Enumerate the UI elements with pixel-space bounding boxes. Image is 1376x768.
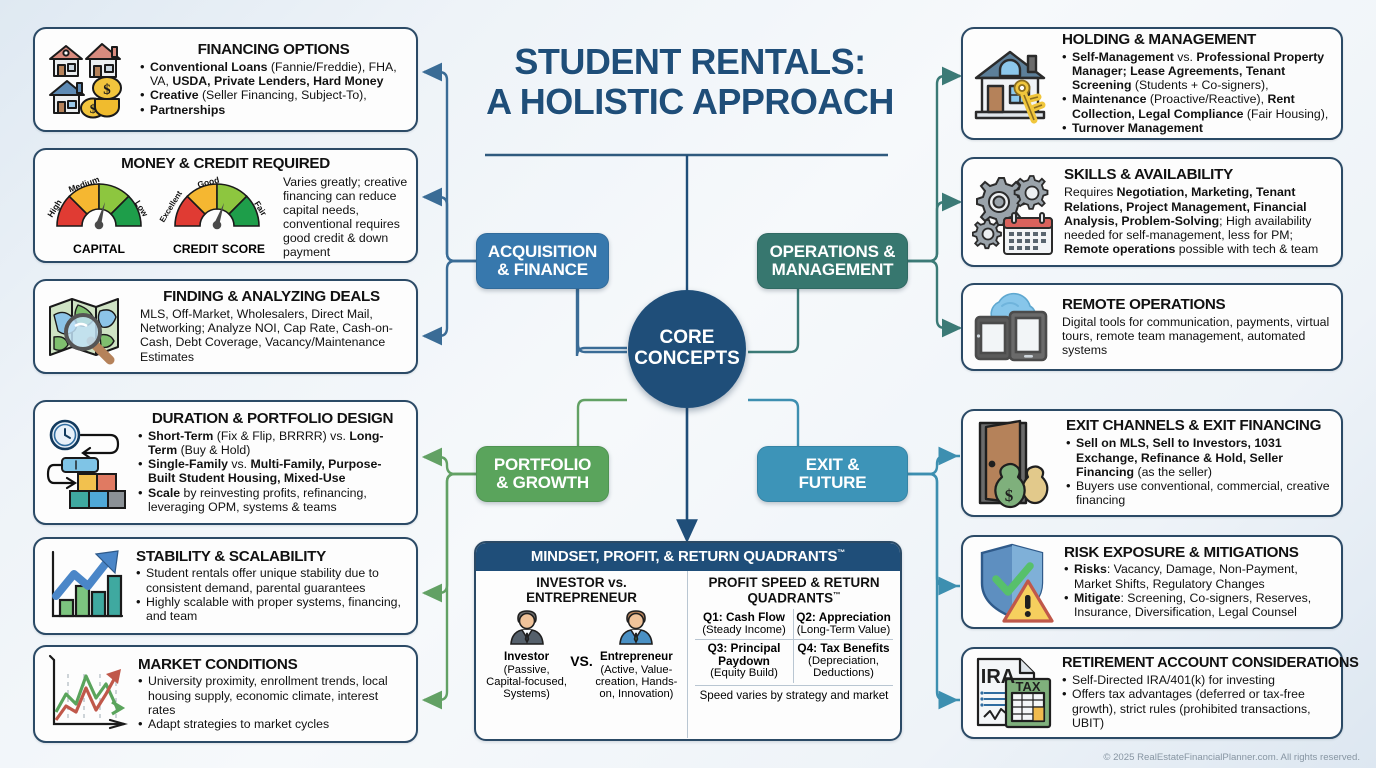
list-item: Buyers use conventional, commercial, cre…: [1066, 479, 1332, 508]
panel-text: MLS, Off-Market, Wholesalers, Direct Mai…: [136, 307, 407, 364]
panel-text: Requires Negotiation, Marketing, Tenant …: [1064, 185, 1332, 256]
svg-text:TAX: TAX: [1015, 679, 1040, 694]
copyright-notice: © 2025 RealEstateFinancialPlanner.com. A…: [1103, 752, 1360, 763]
quadrant-desc: (Steady Income): [697, 624, 791, 636]
quadrant-desc: (Depreciation, Deductions): [796, 655, 891, 680]
list-item: Student rentals offer unique stability d…: [136, 566, 407, 595]
ira-tax-icon: IRA TAX: [972, 653, 1054, 733]
quadrant-cell-q1: Q1: Cash Flow (Steady Income): [695, 609, 794, 640]
panel-money-credit-required[interactable]: MONEY & CREDIT REQUIRED High Medium Low: [33, 148, 418, 263]
list-item: Self-Directed IRA/401(k) for investing: [1062, 673, 1337, 687]
profit-speed-return-column: PROFIT SPEED & RETURN QUADRANTS™ Q1: Cas…: [688, 571, 900, 738]
branch-label-line-2: & GROWTH: [494, 474, 591, 492]
panel-bullet-list: Sell on MLS, Sell to Investors, 1031 Exc…: [1066, 436, 1332, 507]
panel-bullet-list: Student rentals offer unique stability d…: [136, 566, 407, 623]
panel-bullet-list: Self-Directed IRA/401(k) for investing O…: [1062, 673, 1337, 730]
title-line-1: STUDENT RENTALS:: [440, 42, 940, 82]
trademark-symbol: ™: [833, 590, 841, 599]
panel-holding-management[interactable]: HOLDING & MANAGEMENT Self-Management vs.…: [961, 27, 1343, 140]
houses-and-coins-icon: $ $: [44, 37, 132, 123]
gauge-capital: High Medium Low CAPITAL: [43, 174, 155, 256]
list-item: Self-Management vs. Professional Propert…: [1062, 50, 1332, 93]
list-item: Risks: Vacancy, Damage, Non-Payment, Mar…: [1064, 562, 1332, 591]
person-desc: (Active, Value-creation, Hands-on, Innov…: [593, 664, 680, 700]
panel-heading: FINDING & ANALYZING DEALS: [136, 289, 407, 305]
list-item: Sell on MLS, Sell to Investors, 1031 Exc…: [1066, 436, 1332, 479]
quadrant-box-header: MINDSET, PROFIT, & RETURN QUADRANTS™: [476, 543, 900, 571]
panel-bullet-list: Short-Term (Fix & Flip, BRRRR) vs. Long-…: [138, 429, 407, 515]
list-item: Maintenance (Proactive/Reactive), Rent C…: [1062, 92, 1332, 121]
person-name: Investor: [483, 651, 570, 664]
svg-text:IRA: IRA: [981, 666, 1015, 688]
panel-text: Varies greatly; creative financing can r…: [283, 174, 408, 259]
panel-heading: HOLDING & MANAGEMENT: [1062, 32, 1332, 48]
column-title: PROFIT SPEED & RETURN QUADRANTS™: [695, 576, 893, 606]
branch-label-line-1: PORTFOLIO: [494, 456, 591, 474]
quadrant-desc: (Equity Build): [697, 667, 791, 679]
panel-heading: RETIREMENT ACCOUNT CONSIDERATIONS: [1062, 656, 1337, 671]
panel-remote-operations[interactable]: REMOTE OPERATIONS Digital tools for comm…: [961, 283, 1343, 371]
gauge-label: CAPITAL: [43, 242, 155, 256]
mindset-profit-return-quadrants-box[interactable]: MINDSET, PROFIT, & RETURN QUADRANTS™ INV…: [474, 541, 902, 741]
panel-heading: STABILITY & SCALABILITY: [136, 549, 407, 565]
list-item: Single-Family vs. Multi-Family, Purpose-…: [138, 457, 407, 486]
core-label-line-1: CORE: [634, 328, 740, 349]
panel-heading: MARKET CONDITIONS: [138, 657, 407, 673]
quadrant-cell-q3: Q3: Principal Paydown (Equity Build): [695, 640, 794, 683]
panel-bullet-list: Conventional Loans (Fannie/Freddie), FHA…: [140, 60, 407, 117]
person-name: Entrepreneur: [593, 651, 680, 664]
branch-acquisition-finance[interactable]: ACQUISITION & FINANCE: [476, 233, 609, 289]
entrepreneur-profile: Entrepreneur (Active, Value-creation, Ha…: [593, 608, 680, 700]
quadrant-cell-q4: Q4: Tax Benefits (Depreciation, Deductio…: [794, 640, 893, 683]
svg-text:$: $: [103, 82, 111, 98]
panel-risk-exposure-mitigations[interactable]: RISK EXPOSURE & MITIGATIONS Risks: Vacan…: [961, 535, 1343, 629]
branch-operations-management[interactable]: OPERATIONS & MANAGEMENT: [757, 233, 908, 289]
list-item: Conventional Loans (Fannie/Freddie), FHA…: [140, 60, 407, 89]
column-title: INVESTOR vs. ENTREPRENEUR: [483, 576, 680, 605]
trademark-symbol: ™: [837, 548, 845, 557]
person-desc: (Passive, Capital-focused, Systems): [483, 664, 570, 700]
panel-heading: EXIT CHANNELS & EXIT FINANCING: [1066, 418, 1332, 434]
svg-text:$: $: [90, 101, 97, 116]
list-item: Adapt strategies to market cycles: [138, 717, 407, 731]
branch-exit-future[interactable]: EXIT & FUTURE: [757, 446, 908, 502]
panel-heading: SKILLS & AVAILABILITY: [1064, 167, 1332, 183]
panel-bullet-list: University proximity, enrollment trends,…: [138, 674, 407, 731]
column-title-text: PROFIT SPEED & RETURN QUADRANTS: [708, 575, 879, 605]
branch-label-line-1: OPERATIONS &: [770, 243, 896, 261]
core-concepts-hub[interactable]: CORE CONCEPTS: [628, 290, 746, 408]
branch-label-line-1: ACQUISITION: [488, 243, 597, 261]
door-moneybags-icon: $: [972, 417, 1058, 509]
quadrant-box-header-text: MINDSET, PROFIT, & RETURN QUADRANTS: [531, 548, 837, 565]
investor-vs-entrepreneur-column: INVESTOR vs. ENTREPRENEUR I: [476, 571, 688, 738]
branch-portfolio-growth[interactable]: PORTFOLIO & GROWTH: [476, 446, 609, 502]
quadrant-label: Q1: Cash Flow: [697, 611, 791, 624]
infographic-canvas: STUDENT RENTALS: A HOLISTIC APPROACH COR…: [0, 0, 1376, 768]
branch-label-line-1: EXIT &: [799, 456, 867, 474]
gears-calendar-icon: [972, 168, 1056, 256]
list-item: Mitigate: Screening, Co-signers, Reserve…: [1064, 591, 1332, 620]
list-item: Offers tax advantages (deferred or tax-f…: [1062, 687, 1337, 730]
panel-text: Digital tools for communication, payment…: [1062, 315, 1332, 358]
house-keys-icon: [972, 42, 1054, 126]
panel-finding-analyzing-deals[interactable]: FINDING & ANALYZING DEALS MLS, Off-Marke…: [33, 279, 418, 374]
entrepreneur-avatar-icon: [616, 608, 656, 646]
panel-heading: REMOTE OPERATIONS: [1062, 297, 1332, 313]
panel-bullet-list: Self-Management vs. Professional Propert…: [1062, 50, 1332, 136]
quadrant-label: Q2: Appreciation: [796, 611, 891, 624]
cloud-devices-icon: [972, 290, 1054, 364]
title-line-2: A HOLISTIC APPROACH: [440, 82, 940, 122]
investor-avatar-icon: [507, 608, 547, 646]
panel-retirement-account-considerations[interactable]: IRA TAX RETIREMENT ACCOUNT CONSIDERATION…: [961, 647, 1343, 739]
panel-bullet-list: Risks: Vacancy, Damage, Non-Payment, Mar…: [1064, 562, 1332, 619]
panel-skills-availability[interactable]: SKILLS & AVAILABILITY Requires Negotiati…: [961, 157, 1343, 267]
panel-financing-options[interactable]: $ $ FINANCING OPTIONS Conventional Loans…: [33, 27, 418, 132]
quadrant-cell-q2: Q2: Appreciation (Long-Term Value): [794, 609, 893, 640]
list-item: University proximity, enrollment trends,…: [138, 674, 407, 717]
quadrant-label: Q4: Tax Benefits: [796, 642, 891, 655]
timeline-blocks-icon: [44, 413, 130, 513]
panel-heading: RISK EXPOSURE & MITIGATIONS: [1064, 545, 1332, 561]
gauge-credit-score: Excellent Good Fair CREDIT SCORE: [159, 174, 279, 256]
page-title: STUDENT RENTALS: A HOLISTIC APPROACH: [440, 42, 940, 123]
panel-exit-channels-financing[interactable]: $ EXIT CHANNELS & EXIT FINANCING Sell on…: [961, 409, 1343, 517]
branch-label-line-2: & FINANCE: [488, 261, 597, 279]
gauge-label: CREDIT SCORE: [159, 242, 279, 256]
quadrant-footnote: Speed varies by strategy and market: [695, 685, 893, 702]
list-item: Highly scalable with proper systems, fin…: [136, 595, 407, 624]
quadrant-desc: (Long-Term Value): [796, 624, 891, 636]
list-item: Partnerships: [140, 103, 407, 117]
core-label-line-2: CONCEPTS: [634, 349, 740, 370]
growth-bar-chart-icon: [44, 546, 128, 626]
branch-label-line-2: FUTURE: [799, 474, 867, 492]
panel-duration-portfolio-design[interactable]: DURATION & PORTFOLIO DESIGN Short-Term (…: [33, 400, 418, 525]
panel-heading: DURATION & PORTFOLIO DESIGN: [138, 411, 407, 427]
list-item: Scale by reinvesting profits, refinancin…: [138, 486, 407, 515]
svg-text:$: $: [1005, 486, 1014, 505]
list-item: Turnover Management: [1062, 121, 1332, 135]
versus-label: VS.: [570, 639, 593, 669]
panel-heading: MONEY & CREDIT REQUIRED: [43, 156, 408, 172]
list-item: Creative (Seller Financing, Subject-To),: [140, 88, 407, 102]
quadrant-label: Q3: Principal Paydown: [697, 642, 791, 667]
investor-profile: Investor (Passive, Capital-focused, Syst…: [483, 608, 570, 700]
panel-market-conditions[interactable]: MARKET CONDITIONS University proximity, …: [33, 645, 418, 743]
map-magnifier-icon: [44, 289, 128, 365]
list-item: Short-Term (Fix & Flip, BRRRR) vs. Long-…: [138, 429, 407, 458]
panel-stability-scalability[interactable]: STABILITY & SCALABILITY Student rentals …: [33, 537, 418, 635]
market-line-chart-icon: [44, 654, 130, 734]
shield-warning-icon: [972, 541, 1056, 623]
branch-label-line-2: MANAGEMENT: [770, 261, 896, 279]
panel-heading: FINANCING OPTIONS: [140, 42, 407, 58]
